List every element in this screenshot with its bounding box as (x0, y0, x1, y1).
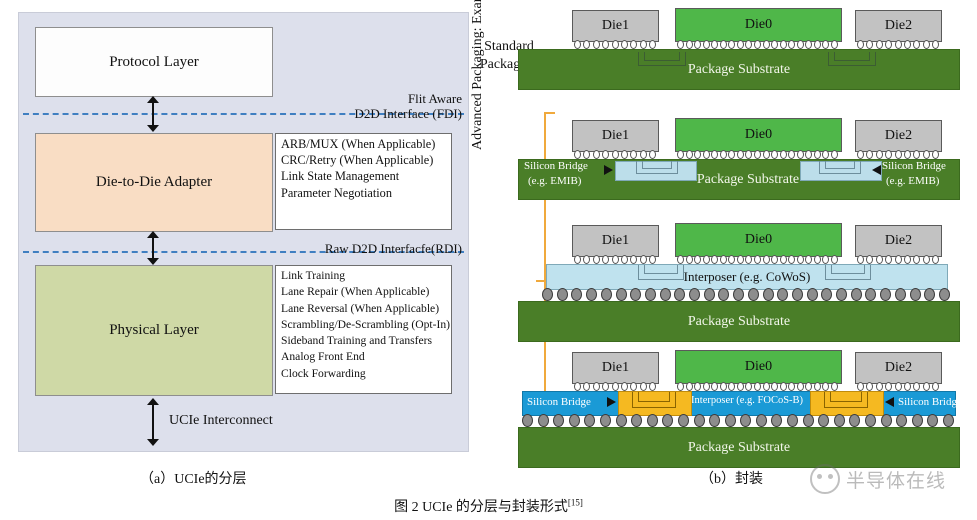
solder-ball (803, 414, 814, 427)
die0-label: Die0 (745, 359, 772, 375)
microbump (780, 255, 787, 264)
microbump (876, 40, 883, 49)
phy-feature-item: Scrambling/De-Scrambling (Opt-In) (281, 317, 447, 333)
microbump (895, 382, 902, 391)
solder-ball (538, 414, 549, 427)
microbump (923, 40, 930, 49)
solder-ball (849, 414, 860, 427)
microbump (876, 255, 883, 264)
microbump (737, 150, 744, 159)
solder-ball (709, 414, 720, 427)
microbump (602, 150, 609, 159)
solder-ball (943, 414, 954, 427)
microbump (885, 382, 892, 391)
die0-label: Die0 (745, 17, 772, 33)
package-substrate-cowos: Package Substrate (518, 301, 960, 342)
microbump (583, 255, 590, 264)
microbump (677, 40, 684, 49)
microbump (677, 255, 684, 264)
microbump (822, 40, 829, 49)
phy-feature-item: Lane Repair (When Applicable) (281, 284, 447, 300)
microbump-row-die2 (857, 150, 939, 159)
figure-ucie-layering-and-packaging: Protocol Layer Flit Aware D2D Interface … (0, 0, 977, 520)
phy-feature-item: Link Training (281, 268, 447, 284)
c4-solder-ball-row (522, 414, 954, 427)
microbump-row-die1 (574, 40, 656, 49)
solder-ball (763, 288, 774, 301)
microbump (745, 255, 752, 264)
microbump (831, 40, 838, 49)
solder-ball (836, 288, 847, 301)
solder-ball (586, 288, 597, 301)
solder-ball (662, 414, 673, 427)
interconnect-trace-left-inner (644, 52, 680, 61)
microbump (593, 150, 600, 159)
silicon-bridge-left-label-line2: (e.g. EMIB) (528, 175, 581, 188)
die1-label: Die1 (602, 18, 629, 34)
microbump (831, 382, 838, 391)
die1-cowos: Die1 (572, 225, 659, 257)
microbump (711, 382, 718, 391)
microbump (621, 150, 628, 159)
interconnect-trace-right-inner (834, 52, 870, 61)
solder-ball (865, 288, 876, 301)
microbump (745, 40, 752, 49)
microbump (866, 40, 873, 49)
physical-layer-label: Physical Layer (109, 322, 199, 339)
die1-emib: Die1 (572, 120, 659, 152)
adapter-feature-item: Link State Management (281, 168, 447, 184)
microbump (797, 382, 804, 391)
microbump (857, 40, 864, 49)
silicon-bridge-right-label-line2: (e.g. EMIB) (886, 175, 939, 188)
microbump (574, 150, 581, 159)
fdi-bidirectional-arrow-icon (146, 96, 160, 132)
microbump (583, 382, 590, 391)
microbump (630, 150, 637, 159)
microbump (574, 40, 581, 49)
solder-ball (865, 414, 876, 427)
protocol-layer-box: Protocol Layer (35, 27, 273, 97)
microbump (593, 382, 600, 391)
interposer-trace-right-inner (831, 265, 865, 274)
silicon-bridge-left-label: Silicon Bridge (527, 396, 591, 409)
protocol-layer-label: Protocol Layer (109, 54, 199, 71)
phy-feature-item: Sideband Training and Transfers (281, 333, 447, 349)
microbump (857, 150, 864, 159)
microbump (913, 255, 920, 264)
solder-ball (756, 414, 767, 427)
arrow-head-down (147, 258, 159, 265)
microbump-row-die0 (677, 40, 838, 49)
solder-ball (896, 414, 907, 427)
microbump (694, 150, 701, 159)
arrow-shaft (152, 236, 154, 260)
fdi-label-line1: Flit Aware (262, 91, 462, 106)
microbump (649, 382, 656, 391)
microbump (602, 40, 609, 49)
ucie-interconnect-arrow-icon (146, 398, 160, 446)
silicon-bridge-right-label: Silicon Bridge (898, 396, 962, 409)
solder-ball (927, 414, 938, 427)
microbump (913, 40, 920, 49)
microbump-row-die1 (574, 382, 656, 391)
packaging-diagrams-panel: Die1 Die0 Die2 Package Substrate Die1 Di… (470, 0, 977, 462)
die2-label: Die2 (885, 128, 912, 144)
solder-ball (616, 288, 627, 301)
solder-ball (777, 288, 788, 301)
solder-ball (631, 414, 642, 427)
microbump (703, 40, 710, 49)
figure-caption-ref: [15] (568, 497, 583, 507)
bridge-pointer-right-icon (872, 165, 881, 175)
microbump-row-die2 (857, 255, 939, 264)
die0-standard: Die0 (675, 8, 842, 42)
microbump (737, 255, 744, 264)
die1-focos: Die1 (572, 352, 659, 384)
solder-ball (600, 414, 611, 427)
microbump (602, 382, 609, 391)
solder-ball (553, 414, 564, 427)
package-substrate-label: Package Substrate (688, 314, 790, 330)
microbump (814, 255, 821, 264)
solder-ball (694, 414, 705, 427)
subfigure-caption-b: （b）封装 (700, 468, 763, 488)
microbump (788, 150, 795, 159)
microbump (649, 40, 656, 49)
microbump (763, 150, 770, 159)
microbump (612, 382, 619, 391)
solder-ball (924, 288, 935, 301)
package-substrate-label: Package Substrate (697, 172, 799, 188)
watermark-logo-icon (810, 464, 840, 494)
microbump (857, 382, 864, 391)
si-bridge-trace-right-inner (830, 392, 862, 402)
interposer-trace-left-inner (644, 265, 678, 274)
microbump (754, 382, 761, 391)
microbump (612, 40, 619, 49)
package-substrate-standard: Package Substrate (518, 49, 960, 90)
solder-ball (834, 414, 845, 427)
microbump (932, 150, 939, 159)
microbump (805, 255, 812, 264)
rdi-label-line2: Raw D2D Interfacfe(RDI) (262, 241, 462, 256)
microbump (797, 150, 804, 159)
microbump (686, 382, 693, 391)
microbump (737, 382, 744, 391)
microbump (857, 255, 864, 264)
adapter-feature-item: CRC/Retry (When Applicable) (281, 152, 447, 168)
fdi-interface-label: Flit Aware D2D Interface (FDI) (262, 91, 462, 121)
microbump (649, 255, 656, 264)
die2-standard: Die2 (855, 10, 942, 42)
microbump (694, 40, 701, 49)
microbump (780, 40, 787, 49)
microbump (771, 40, 778, 49)
microbump (763, 255, 770, 264)
die2-label: Die2 (885, 18, 912, 34)
microbump (686, 255, 693, 264)
microbump (831, 255, 838, 264)
microbump (711, 150, 718, 159)
microbump (728, 382, 735, 391)
microbump (814, 382, 821, 391)
microbump (737, 40, 744, 49)
microbump-row-die2 (857, 40, 939, 49)
microbump (677, 150, 684, 159)
microbump (788, 255, 795, 264)
microbump (745, 150, 752, 159)
si-bridge-trace-left-inner (638, 392, 670, 402)
die1-label: Die1 (602, 128, 629, 144)
solder-ball (851, 288, 862, 301)
microbump (640, 150, 647, 159)
microbump-row-die2 (857, 382, 939, 391)
microbump (686, 40, 693, 49)
solder-ball (821, 288, 832, 301)
solder-ball (557, 288, 568, 301)
figure-caption: 图 2 UCIe 的分层与封装形式[15] (0, 496, 977, 516)
microbump (630, 255, 637, 264)
microbump (876, 150, 883, 159)
die2-focos: Die2 (855, 352, 942, 384)
die-to-die-adapter-label: Die-to-Die Adapter (96, 174, 212, 191)
microbump-row-die0 (677, 150, 838, 159)
phy-feature-item: Lane Reversal (When Applicable) (281, 301, 447, 317)
microbump-row-die1 (574, 150, 656, 159)
microbump (923, 255, 930, 264)
microbump (720, 382, 727, 391)
microbump (694, 382, 701, 391)
rdi-interface-label: Raw D2D Interfacfe(RDI) (262, 241, 462, 256)
solder-ball (818, 414, 829, 427)
microbump (630, 382, 637, 391)
microbump (780, 150, 787, 159)
physical-layer-feature-list: Link Training Lane Repair (When Applicab… (275, 265, 452, 394)
solder-ball (740, 414, 751, 427)
solder-ball (881, 414, 892, 427)
microbump (621, 382, 628, 391)
solder-ball (787, 414, 798, 427)
solder-ball (678, 414, 689, 427)
solder-ball (748, 288, 759, 301)
microbump-row-die1 (574, 255, 656, 264)
microbump (831, 150, 838, 159)
microbump (822, 150, 829, 159)
solder-ball (630, 288, 641, 301)
microbump (612, 255, 619, 264)
solder-ball (910, 288, 921, 301)
microbump (885, 40, 892, 49)
solder-ball (571, 288, 582, 301)
package-substrate-label: Package Substrate (688, 62, 790, 78)
phy-feature-item: Clock Forwarding (281, 366, 447, 382)
solder-ball (704, 288, 715, 301)
microbump (711, 40, 718, 49)
silicon-bridge-left-label-line1: Silicon Bridge (524, 160, 588, 173)
microbump (904, 255, 911, 264)
microbump (895, 40, 902, 49)
solder-ball (647, 414, 658, 427)
microbump (913, 150, 920, 159)
microbump (866, 150, 873, 159)
microbump (885, 255, 892, 264)
die1-label: Die1 (602, 233, 629, 249)
die2-cowos: Die2 (855, 225, 942, 257)
watermark-text: 半导体在线 (846, 466, 946, 493)
physical-layer-box: Physical Layer (35, 265, 273, 396)
fo-interposer-label: FO Interposer (e.g. FOCoS-B) (675, 395, 803, 406)
microbump (754, 40, 761, 49)
microbump (805, 150, 812, 159)
microbump-row-die0 (677, 382, 838, 391)
microbump (754, 255, 761, 264)
solder-ball (522, 414, 533, 427)
microbump (703, 255, 710, 264)
c4-solder-ball-row (542, 288, 950, 301)
microbump (640, 382, 647, 391)
bridge-pointer-left-icon (604, 165, 613, 175)
arrow-shaft (152, 403, 154, 441)
die2-label: Die2 (885, 360, 912, 376)
arrow-head-down (147, 125, 159, 132)
microbump (649, 150, 656, 159)
microbump (814, 40, 821, 49)
microbump (805, 382, 812, 391)
microbump (904, 40, 911, 49)
solder-ball (674, 288, 685, 301)
solder-ball (939, 288, 950, 301)
adapter-feature-item: Parameter Negotiation (281, 185, 447, 201)
microbump (822, 255, 829, 264)
bridge-trace-right-inner (825, 161, 855, 169)
die1-label: Die1 (602, 360, 629, 376)
microbump (763, 382, 770, 391)
microbump (720, 40, 727, 49)
microbump (703, 150, 710, 159)
microbump (797, 255, 804, 264)
phy-feature-item: Analog Front End (281, 349, 447, 365)
solder-ball (733, 288, 744, 301)
solder-ball (912, 414, 923, 427)
microbump (763, 40, 770, 49)
die2-emib: Die2 (855, 120, 942, 152)
microbump (574, 382, 581, 391)
adapter-feature-list: ARB/MUX (When Applicable) CRC/Retry (Whe… (275, 133, 452, 230)
solder-ball (645, 288, 656, 301)
microbump (754, 150, 761, 159)
figure-caption-text: 图 2 UCIe 的分层与封装形式 (394, 500, 568, 515)
microbump (703, 382, 710, 391)
arrow-head-down (147, 439, 159, 446)
microbump (686, 150, 693, 159)
microbump (745, 382, 752, 391)
microbump (885, 150, 892, 159)
adapter-feature-item: ARB/MUX (When Applicable) (281, 136, 447, 152)
microbump (932, 382, 939, 391)
die0-emib: Die0 (675, 118, 842, 152)
microbump (574, 255, 581, 264)
fdi-label-line2: D2D Interface (FDI) (262, 106, 462, 121)
microbump (583, 40, 590, 49)
microbump (593, 40, 600, 49)
microbump (923, 150, 930, 159)
interposer-cowos: Interposer (e.g. CoWoS) (546, 264, 948, 290)
watermark: 半导体在线 (810, 462, 975, 496)
microbump (771, 255, 778, 264)
microbump (621, 255, 628, 264)
interposer-label: Interposer (e.g. CoWoS) (684, 269, 811, 285)
solder-ball (880, 288, 891, 301)
microbump (728, 40, 735, 49)
microbump (788, 382, 795, 391)
microbump (814, 150, 821, 159)
solder-ball (601, 288, 612, 301)
microbump (728, 150, 735, 159)
microbump (612, 150, 619, 159)
microbump (720, 150, 727, 159)
solder-ball (689, 288, 700, 301)
solder-ball (660, 288, 671, 301)
microbump (895, 150, 902, 159)
microbump (711, 255, 718, 264)
die0-cowos: Die0 (675, 223, 842, 257)
silicon-bridge-right-label-line1: Silicon Bridge (882, 160, 946, 173)
microbump (913, 382, 920, 391)
microbump (805, 40, 812, 49)
solder-ball (616, 414, 627, 427)
rdi-bidirectional-arrow-icon (146, 231, 160, 265)
solder-ball (771, 414, 782, 427)
microbump (771, 150, 778, 159)
microbump (602, 255, 609, 264)
microbump (771, 382, 778, 391)
bridge-pointer-right-icon (885, 397, 894, 407)
microbump (640, 40, 647, 49)
microbump (923, 382, 930, 391)
package-substrate-label: Package Substrate (688, 440, 790, 456)
microbump (797, 40, 804, 49)
solder-ball (725, 414, 736, 427)
microbump (866, 382, 873, 391)
microbump (866, 255, 873, 264)
solder-ball (807, 288, 818, 301)
solder-ball (792, 288, 803, 301)
microbump (932, 255, 939, 264)
microbump (788, 40, 795, 49)
solder-ball (718, 288, 729, 301)
microbump (720, 255, 727, 264)
bridge-pointer-left-icon (607, 397, 616, 407)
microbump (904, 150, 911, 159)
die0-focos: Die0 (675, 350, 842, 384)
microbump (694, 255, 701, 264)
solder-ball (584, 414, 595, 427)
microbump (677, 382, 684, 391)
die2-label: Die2 (885, 233, 912, 249)
ucie-layering-panel: Protocol Layer Flit Aware D2D Interface … (18, 12, 469, 452)
microbump (822, 382, 829, 391)
microbump (728, 255, 735, 264)
microbump (583, 150, 590, 159)
die-to-die-adapter-box: Die-to-Die Adapter (35, 133, 273, 232)
solder-ball (569, 414, 580, 427)
microbump (904, 382, 911, 391)
microbump (640, 255, 647, 264)
solder-ball (542, 288, 553, 301)
microbump (780, 382, 787, 391)
die1-standard: Die1 (572, 10, 659, 42)
